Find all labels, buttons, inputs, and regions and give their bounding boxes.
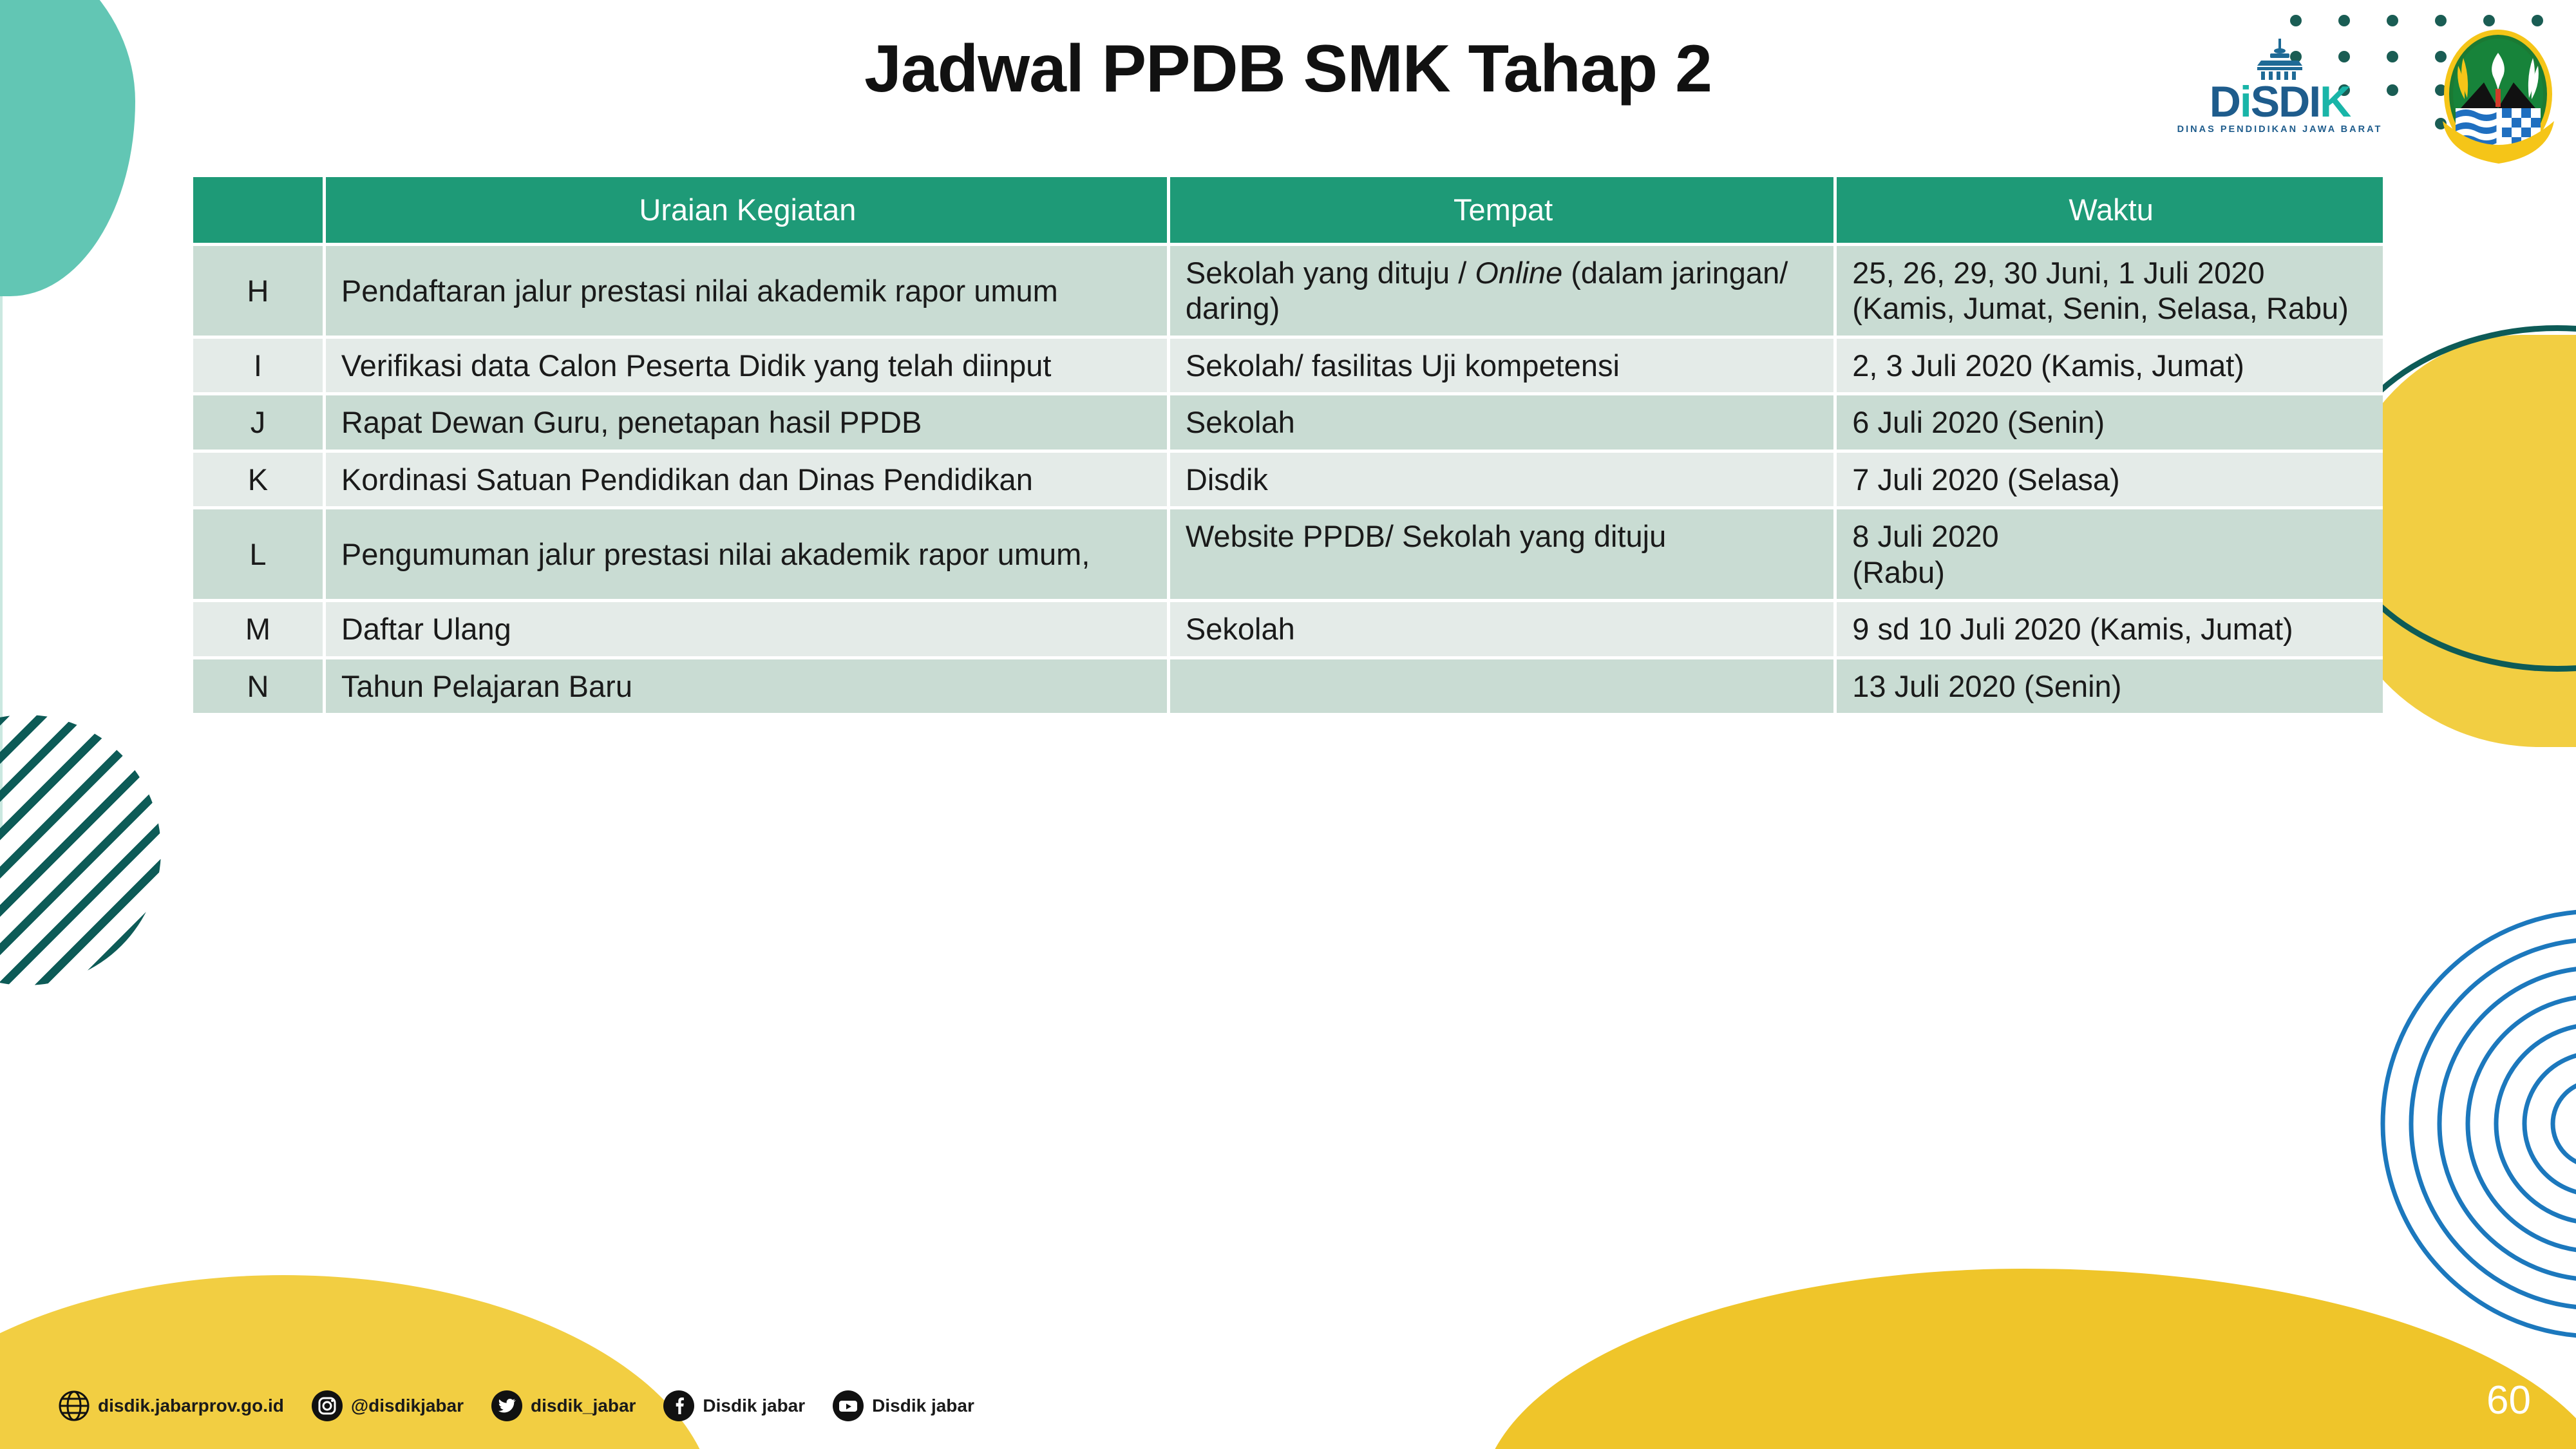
row-activity: Kordinasi Satuan Pendidikan dan Dinas Pe… (326, 453, 1170, 509)
facebook-icon (663, 1390, 695, 1422)
row-time: 9 sd 10 Juli 2020 (Kamis, Jumat) (1837, 602, 2383, 659)
column-header-place: Tempat (1170, 177, 1837, 246)
yellow-blob-bottom-left-decoration (0, 1275, 715, 1449)
logo-area: DiSDIK DINAS PENDIDIKAN JAWA BARAT (2164, 5, 2563, 166)
footer-label-twitter: disdik_jabar (531, 1396, 636, 1416)
striped-circle-decoration (0, 715, 161, 985)
concentric-rings-decoration (2338, 898, 2576, 1349)
schedule-table: Uraian Kegiatan Tempat Waktu H Pendaftar… (193, 177, 2383, 716)
footer-item-twitter[interactable]: disdik_jabar (491, 1390, 636, 1422)
yellow-blob-bottom-right-decoration (1481, 1269, 2576, 1449)
table-row: K Kordinasi Satuan Pendidikan dan Dinas … (193, 453, 2383, 509)
disdik-wordmark: DiSDIK (2170, 82, 2389, 122)
row-code: I (193, 339, 326, 395)
row-time: 6 Juli 2020 (Senin) (1837, 395, 2383, 452)
row-place-pre: Sekolah yang dituju / (1186, 256, 1475, 290)
table-row: J Rapat Dewan Guru, penetapan hasil PPDB… (193, 395, 2383, 452)
row-place: Sekolah (1170, 395, 1837, 452)
row-code: J (193, 395, 326, 452)
column-header-activity: Uraian Kegiatan (326, 177, 1170, 246)
row-time: 13 Juli 2020 (Senin) (1837, 659, 2383, 716)
twitter-icon (491, 1390, 523, 1422)
globe-icon (58, 1390, 90, 1422)
table-row: I Verifikasi data Calon Peserta Didik ya… (193, 339, 2383, 395)
row-activity: Tahun Pelajaran Baru (326, 659, 1170, 716)
disdik-subtitle: DINAS PENDIDIKAN JAWA BARAT (2170, 124, 2389, 135)
row-activity: Verifikasi data Calon Peserta Didik yang… (326, 339, 1170, 395)
row-activity: Daftar Ulang (326, 602, 1170, 659)
row-time: 8 Juli 2020 (Rabu) (1837, 509, 2383, 602)
table-row: N Tahun Pelajaran Baru 13 Juli 2020 (Sen… (193, 659, 2383, 716)
row-place (1170, 659, 1837, 716)
column-header-time: Waktu (1837, 177, 2383, 246)
row-activity: Pengumuman jalur prestasi nilai akademik… (326, 509, 1170, 602)
footer-label-website: disdik.jabarprov.go.id (98, 1396, 284, 1416)
row-place: Sekolah/ fasilitas Uji kompetensi (1170, 339, 1837, 395)
row-place: Sekolah yang dituju / Online (dalam jari… (1170, 246, 1837, 339)
column-header-code (193, 177, 326, 246)
row-code: H (193, 246, 326, 339)
table-row: L Pengumuman jalur prestasi nilai akadem… (193, 509, 2383, 602)
footer-label-facebook: Disdik jabar (703, 1396, 805, 1416)
row-code: N (193, 659, 326, 716)
row-code: K (193, 453, 326, 509)
row-code: M (193, 602, 326, 659)
footer-item-facebook[interactable]: Disdik jabar (663, 1390, 805, 1422)
table-row: M Daftar Ulang Sekolah 9 sd 10 Juli 2020… (193, 602, 2383, 659)
footer-item-instagram[interactable]: @disdikjabar (311, 1390, 464, 1422)
teal-edge-decoration (0, 0, 3, 837)
row-activity: Pendaftaran jalur prestasi nilai akademi… (326, 246, 1170, 339)
row-place: Disdik (1170, 453, 1837, 509)
row-place: Sekolah (1170, 602, 1837, 659)
row-time: 7 Juli 2020 (Selasa) (1837, 453, 2383, 509)
row-activity: Rapat Dewan Guru, penetapan hasil PPDB (326, 395, 1170, 452)
row-time: 2, 3 Juli 2020 (Kamis, Jumat) (1837, 339, 2383, 395)
row-place-italic: Online (1475, 256, 1562, 290)
table-row: H Pendaftaran jalur prestasi nilai akade… (193, 246, 2383, 339)
row-code: L (193, 509, 326, 602)
footer-item-youtube[interactable]: Disdik jabar (832, 1390, 974, 1422)
instagram-icon (311, 1390, 343, 1422)
slide-canvas: Jadwal PPDB SMK Tahap 2 (0, 0, 2576, 1449)
footer-label-instagram: @disdikjabar (351, 1396, 464, 1416)
disdik-logo: DiSDIK DINAS PENDIDIKAN JAWA BARAT (2170, 39, 2389, 135)
jawa-barat-emblem-icon (2439, 27, 2558, 167)
row-place: Website PPDB/ Sekolah yang dituju (1170, 509, 1837, 602)
page-number: 60 (2486, 1378, 2531, 1423)
footer-label-youtube: Disdik jabar (872, 1396, 974, 1416)
youtube-icon (832, 1390, 864, 1422)
gedung-sate-icon (2244, 39, 2315, 81)
footer-item-website[interactable]: disdik.jabarprov.go.id (58, 1390, 284, 1422)
table-header-row: Uraian Kegiatan Tempat Waktu (193, 177, 2383, 246)
row-time: 25, 26, 29, 30 Juni, 1 Juli 2020 (Kamis,… (1837, 246, 2383, 339)
footer-social-bar: disdik.jabarprov.go.id @disdikjabar (58, 1390, 1001, 1422)
